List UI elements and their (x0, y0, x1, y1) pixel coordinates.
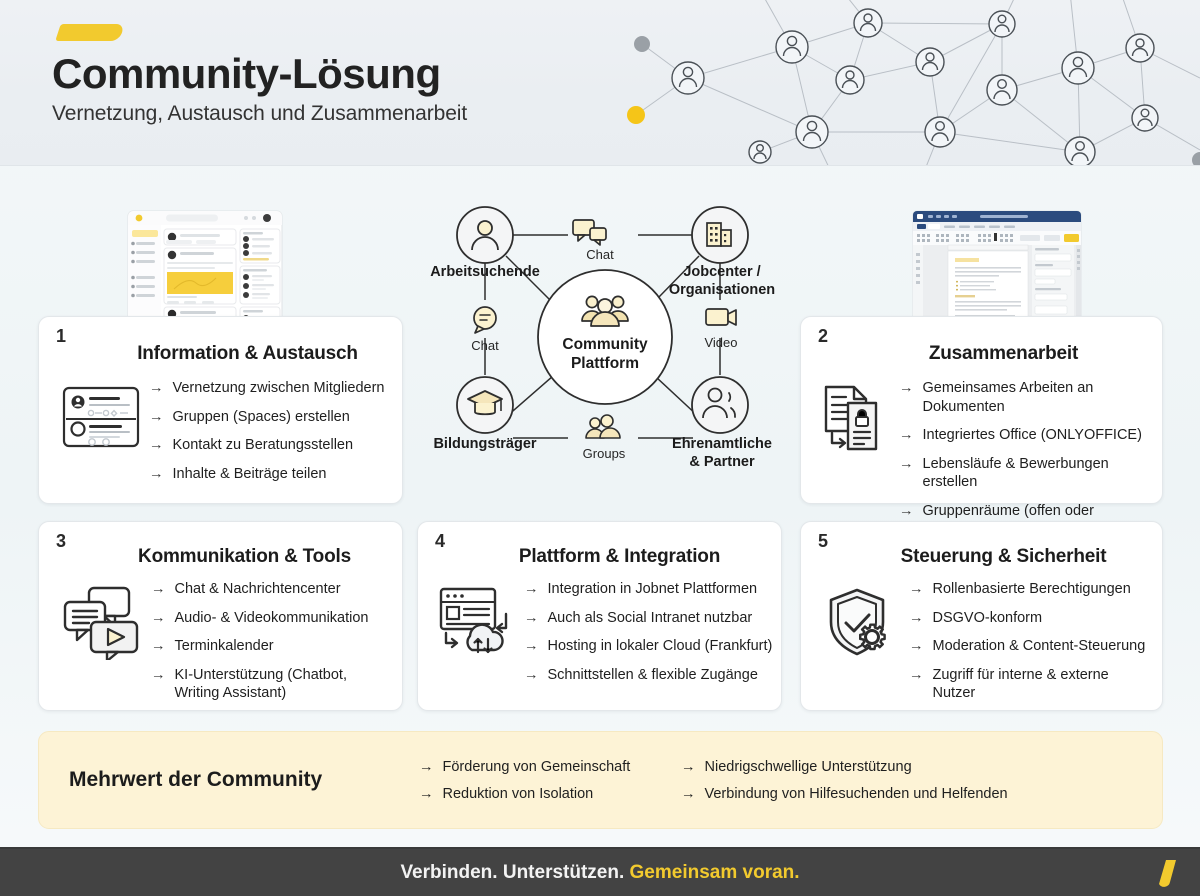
documents-icon (815, 381, 899, 455)
list-item: →Reduktion von Isolation (419, 786, 681, 802)
arrow-icon: → (899, 426, 914, 445)
banner-column-1: →Förderung von Gemeinschaft →Reduktion v… (419, 759, 681, 802)
bullet-text: KI-Unterstützung (Chatbot, Writing Assis… (175, 666, 393, 703)
list-item: →Integration in Jobnet Plattformen (524, 580, 772, 599)
arrow-icon: → (524, 666, 539, 685)
svg-text:Bildungsträger: Bildungsträger (433, 436, 536, 452)
arrow-icon: → (419, 786, 434, 802)
arrow-icon: → (151, 666, 166, 685)
card-title: Plattform & Integration (458, 546, 781, 568)
list-item: →Hosting in lokaler Cloud (Frankfurt) (524, 637, 772, 656)
document-editor-screenshot (908, 207, 1086, 327)
list-item: →DSGVO-konform (909, 609, 1154, 628)
bullet-text: Inhalte & Beiträge teilen (173, 465, 327, 484)
card-number: 1 (56, 326, 66, 347)
brand-mark-icon (1150, 858, 1178, 895)
chat-bubbles-icon (573, 220, 606, 245)
bullet-text: Terminkalender (175, 637, 274, 656)
card-bullet-list: →Rollenbasierte Berechtigungen →DSGVO-ko… (909, 580, 1154, 703)
list-item: →Integriertes Office (ONLYOFFICE) (899, 426, 1156, 445)
list-item: →Audio- & Videokommunikation (151, 609, 392, 628)
svg-text:Organisationen: Organisationen (669, 282, 775, 298)
bullet-text: Zugriff für interne & externe Nutzer (933, 666, 1155, 703)
page-footer: Verbinden. Unterstützen. Gemeinsam voran… (0, 847, 1200, 896)
footer-tagline-plain: Verbinden. Unterstützen. (400, 862, 629, 883)
hub-center-label-line2: Plattform (571, 355, 639, 372)
bullet-text: Integriertes Office (ONLYOFFICE) (923, 426, 1142, 445)
svg-text:Arbeitsuchende: Arbeitsuchende (430, 264, 540, 280)
card-title: Zusammenarbeit (845, 343, 1162, 365)
chat-video-icon (55, 584, 151, 660)
arrow-icon: → (909, 609, 924, 628)
bullet-text: Niedrigschwellige Unterstützung (705, 759, 912, 775)
list-item: →Chat & Nachrichtencenter (151, 580, 392, 599)
hub-node-arbeitsuchende (457, 207, 513, 263)
card-bullet-list: →Vernetzung zwischen Mitgliedern →Gruppe… (149, 379, 384, 483)
arrow-icon: → (524, 609, 539, 628)
arrow-icon: → (149, 465, 164, 484)
list-item: →Schnittstellen & flexible Zugänge (524, 666, 772, 685)
bullet-text: Rollenbasierte Berechtigungen (933, 580, 1131, 599)
bullet-text: DSGVO-konform (933, 609, 1043, 628)
list-item: →Kontakt zu Beratungsstellen (149, 436, 384, 455)
arrow-icon: → (149, 379, 164, 398)
community-hub-diagram: Community Plattform Arbeitsuchende Jobce… (410, 190, 800, 500)
network-illustration (600, 0, 1200, 166)
card-number: 5 (818, 531, 828, 552)
hub-node-jobcenter (692, 207, 748, 263)
bullet-text: Integration in Jobnet Plattformen (548, 580, 758, 599)
community-feed-screenshot (122, 207, 288, 327)
feature-card-3[interactable]: 3 Kommunikation & Tools →Chat & Nachrich… (38, 521, 403, 711)
banner-title: Mehrwert der Community (69, 768, 419, 792)
groups-icon (586, 415, 620, 438)
card-number: 3 (56, 531, 66, 552)
arrow-icon: → (151, 609, 166, 628)
brand-accent-bar (55, 24, 125, 41)
bullet-text: Schnittstellen & flexible Zugänge (548, 666, 758, 685)
arrow-icon: → (909, 637, 924, 656)
bullet-text: Gemeinsames Arbeiten an Dokumenten (923, 379, 1157, 416)
bullet-text: Hosting in lokaler Cloud (Frankfurt) (548, 637, 773, 656)
feature-card-5[interactable]: 5 Steuerung & Sicherheit →Rollenbasierte… (800, 521, 1163, 711)
post-feed-icon (53, 383, 149, 451)
bullet-text: Chat & Nachrichtencenter (175, 580, 341, 599)
list-item: →Gruppen (Spaces) erstellen (149, 408, 384, 427)
arrow-icon: → (151, 580, 166, 599)
svg-text:& Partner: & Partner (689, 454, 755, 470)
list-item: →Lebensläufe & Bewerbungen erstellen (899, 455, 1156, 492)
bullet-text: Lebensläufe & Bewerbungen erstellen (923, 455, 1157, 492)
arrow-icon: → (909, 580, 924, 599)
svg-text:Groups: Groups (583, 446, 626, 461)
feature-card-2[interactable]: 2 Zusammenarbeit (800, 316, 1163, 504)
list-item: →Gemeinsames Arbeiten an Dokumenten (899, 379, 1156, 416)
arrow-icon: → (909, 666, 924, 685)
card-bullet-list: →Integration in Jobnet Plattformen →Auch… (524, 580, 772, 684)
card-title: Kommunikation & Tools (87, 546, 402, 568)
video-camera-icon (706, 309, 736, 325)
list-item: →Auch als Social Intranet nutzbar (524, 609, 772, 628)
page-subtitle: Vernetzung, Austausch und Zusammenarbeit (52, 102, 467, 126)
header-text-block: Community-Lösung Vernetzung, Austausch u… (52, 24, 467, 126)
banner-column-2: →Niedrigschwellige Unterstützung →Verbin… (681, 759, 1008, 802)
list-item: →Inhalte & Beiträge teilen (149, 465, 384, 484)
hub-node-bildungstraeger (457, 377, 513, 433)
page-header: Community-Lösung Vernetzung, Austausch u… (0, 0, 1200, 166)
card-title: Steuerung & Sicherheit (845, 546, 1162, 568)
shield-gear-icon (815, 584, 909, 660)
value-banner: Mehrwert der Community →Förderung von Ge… (38, 731, 1163, 829)
footer-tagline-accent: Gemeinsam voran. (630, 862, 800, 883)
chat-bubble-icon (474, 307, 496, 333)
bullet-text: Gruppen (Spaces) erstellen (173, 408, 350, 427)
arrow-icon: → (524, 637, 539, 656)
list-item: →Zugriff für interne & externe Nutzer (909, 666, 1154, 703)
list-item: →Niedrigschwellige Unterstützung (681, 759, 1008, 775)
list-item: →Verbindung von Hilfesuchenden und Helfe… (681, 786, 1008, 802)
hub-center-label-line1: Community (562, 336, 648, 353)
feature-card-1[interactable]: 1 Information & Austausch (38, 316, 403, 504)
arrow-icon: → (419, 759, 434, 775)
hub-node-ehrenamtliche (692, 377, 748, 433)
arrow-icon: → (899, 455, 914, 474)
svg-text:Jobcenter /: Jobcenter / (683, 264, 760, 280)
card-title: Information & Austausch (93, 343, 402, 365)
bullet-text: Reduktion von Isolation (443, 786, 594, 802)
card-number: 2 (818, 326, 828, 347)
card-bullet-list: →Gemeinsames Arbeiten an Dokumenten →Int… (899, 379, 1156, 539)
arrow-icon: → (899, 379, 914, 398)
bullet-text: Auch als Social Intranet nutzbar (548, 609, 753, 628)
arrow-icon: → (681, 759, 696, 775)
bullet-text: Kontakt zu Beratungsstellen (173, 436, 354, 455)
list-item: →Vernetzung zwischen Mitgliedern (149, 379, 384, 398)
bullet-text: Verbindung von Hilfesuchenden und Helfen… (705, 786, 1008, 802)
browser-cloud-icon (432, 584, 524, 660)
bullet-text: Förderung von Gemeinschaft (443, 759, 631, 775)
group-icon (582, 296, 628, 326)
feature-card-4[interactable]: 4 Plattform & Integration →Int (417, 521, 782, 711)
arrow-icon: → (681, 786, 696, 802)
svg-text:Ehrenamtliche: Ehrenamtliche (672, 436, 772, 452)
card-number: 4 (435, 531, 445, 552)
list-item: →Terminkalender (151, 637, 392, 656)
svg-text:Video: Video (704, 335, 737, 350)
page-title: Community-Lösung (52, 52, 467, 96)
svg-text:Chat: Chat (586, 247, 614, 262)
svg-text:Chat: Chat (471, 338, 499, 353)
arrow-icon: → (151, 637, 166, 656)
arrow-icon: → (524, 580, 539, 599)
bullet-text: Audio- & Videokommunikation (175, 609, 369, 628)
bullet-text: Moderation & Content-Steuerung (933, 637, 1146, 656)
list-item: →Moderation & Content-Steuerung (909, 637, 1154, 656)
footer-tagline: Verbinden. Unterstützen. Gemeinsam voran… (0, 862, 1200, 884)
list-item: →Förderung von Gemeinschaft (419, 759, 681, 775)
bullet-text: Vernetzung zwischen Mitgliedern (173, 379, 385, 398)
list-item: →KI-Unterstützung (Chatbot, Writing Assi… (151, 666, 392, 703)
arrow-icon: → (149, 436, 164, 455)
card-bullet-list: →Chat & Nachrichtencenter →Audio- & Vide… (151, 580, 392, 703)
arrow-icon: → (899, 502, 914, 521)
list-item: →Rollenbasierte Berechtigungen (909, 580, 1154, 599)
arrow-icon: → (149, 408, 164, 427)
